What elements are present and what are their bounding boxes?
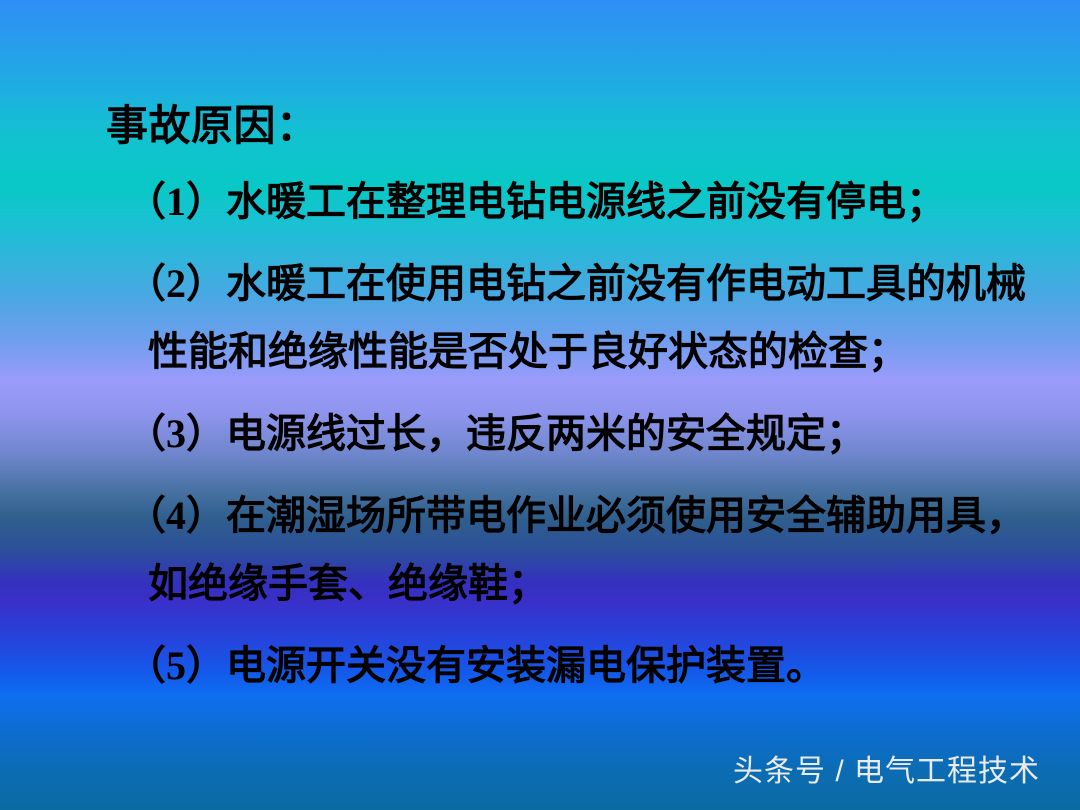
list-item: （1）水暖工在整理电钻电源线之前没有停电；	[0, 168, 1080, 236]
cause-line: （4）在潮湿场所带电作业必须使用安全辅助用具，	[0, 482, 1080, 550]
watermark: 头条号 / 电气工程技术	[733, 746, 1040, 790]
list-spacer	[0, 236, 1080, 250]
cause-line-continuation: 如绝缘手套、绝缘鞋；	[0, 550, 1080, 618]
cause-line: （5）电源开关没有安装漏电保护装置。	[0, 632, 1080, 700]
presentation-slide: 事故原因： （1）水暖工在整理电钻电源线之前没有停电； （2）水暖工在使用电钻之…	[0, 0, 1080, 810]
list-item: （4）在潮湿场所带电作业必须使用安全辅助用具， 如绝缘手套、绝缘鞋；	[0, 482, 1080, 618]
list-item: （5）电源开关没有安装漏电保护装置。	[0, 632, 1080, 700]
cause-list: （1）水暖工在整理电钻电源线之前没有停电； （2）水暖工在使用电钻之前没有作电动…	[0, 168, 1080, 700]
cause-line: （3）电源线过长，违反两米的安全规定；	[0, 400, 1080, 468]
list-spacer	[0, 386, 1080, 400]
cause-line: （1）水暖工在整理电钻电源线之前没有停电；	[0, 168, 1080, 236]
page-title: 事故原因：	[106, 92, 319, 153]
slide-content-area: 事故原因： （1）水暖工在整理电钻电源线之前没有停电； （2）水暖工在使用电钻之…	[0, 0, 1080, 810]
cause-line-continuation: 性能和绝缘性能是否处于良好状态的检查；	[0, 318, 1080, 386]
list-spacer	[0, 618, 1080, 632]
list-item: （3）电源线过长，违反两米的安全规定；	[0, 400, 1080, 468]
list-spacer	[0, 468, 1080, 482]
list-item: （2）水暖工在使用电钻之前没有作电动工具的机械 性能和绝缘性能是否处于良好状态的…	[0, 250, 1080, 386]
cause-line: （2）水暖工在使用电钻之前没有作电动工具的机械	[0, 250, 1080, 318]
